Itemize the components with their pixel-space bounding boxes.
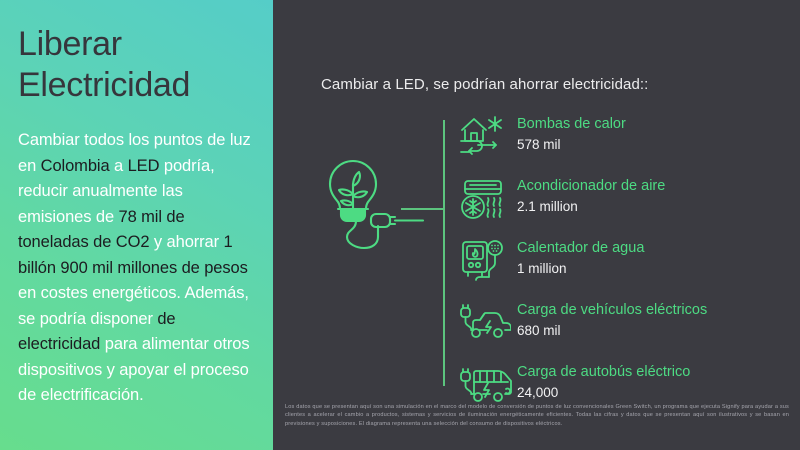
savings-item-row: Bombas de calor578 mil bbox=[459, 113, 789, 167]
savings-item-label: Acondicionador de aire bbox=[517, 177, 665, 196]
savings-item-label: Calentador de agua bbox=[517, 239, 644, 258]
intro-segment-8: en costes energéticos. Además, se podría… bbox=[18, 284, 249, 328]
savings-item-text: Carga de vehículos eléctricos680 mil bbox=[517, 299, 707, 340]
savings-item-row: Acondicionador de aire2.1 million bbox=[459, 175, 789, 229]
savings-item-value: 1 million bbox=[517, 259, 644, 278]
footnote-disclaimer: Los datos que se presentan aquí son una … bbox=[285, 403, 789, 428]
eco-lightbulb-plug-icon bbox=[308, 146, 430, 250]
savings-item-row: Carga de vehículos eléctricos680 mil bbox=[459, 299, 789, 353]
intro-paragraph: Cambiar todos los puntos de luz en Colom… bbox=[18, 128, 259, 409]
page-title: Liberar Electricidad bbox=[18, 24, 259, 106]
savings-item-value: 2.1 million bbox=[517, 197, 665, 216]
savings-item-value: 24,000 bbox=[517, 383, 690, 402]
slide-root: Liberar Electricidad Cambiar todos los p… bbox=[0, 0, 800, 450]
electric-bus-icon bbox=[459, 362, 505, 408]
savings-item-text: Bombas de calor578 mil bbox=[517, 113, 626, 154]
electric-car-icon bbox=[459, 300, 505, 346]
savings-item-value: 578 mil bbox=[517, 135, 626, 154]
savings-item-label: Carga de vehículos eléctricos bbox=[517, 301, 707, 320]
water-heater-icon bbox=[459, 238, 505, 284]
savings-item-text: Calentador de agua1 million bbox=[517, 237, 644, 278]
savings-items-list: Bombas de calor578 mil Acondicionador de… bbox=[459, 113, 789, 415]
right-panel-heading: Cambiar a LED, se podrían ahorrar electr… bbox=[321, 76, 648, 93]
savings-item-text: Carga de autobús eléctrico24,000 bbox=[517, 361, 690, 402]
connector-stub-line bbox=[401, 208, 445, 210]
intro-segment-6: y ahorrar bbox=[149, 233, 223, 251]
air-conditioner-icon bbox=[459, 176, 505, 222]
savings-item-label: Carga de autobús eléctrico bbox=[517, 363, 690, 382]
savings-item-text: Acondicionador de aire2.1 million bbox=[517, 175, 665, 216]
savings-item-row: Calentador de agua1 million bbox=[459, 237, 789, 291]
right-dark-panel: Cambiar a LED, se podrían ahorrar electr… bbox=[273, 0, 800, 450]
left-gradient-panel: Liberar Electricidad Cambiar todos los p… bbox=[0, 0, 273, 450]
savings-item-value: 680 mil bbox=[517, 321, 707, 340]
intro-segment-1: Colombia bbox=[41, 157, 110, 175]
intro-segment-2: a bbox=[110, 157, 128, 175]
heat-pump-icon bbox=[459, 114, 505, 160]
intro-segment-3: LED bbox=[128, 157, 160, 175]
connector-axis-line bbox=[443, 120, 445, 386]
savings-item-label: Bombas de calor bbox=[517, 115, 626, 134]
